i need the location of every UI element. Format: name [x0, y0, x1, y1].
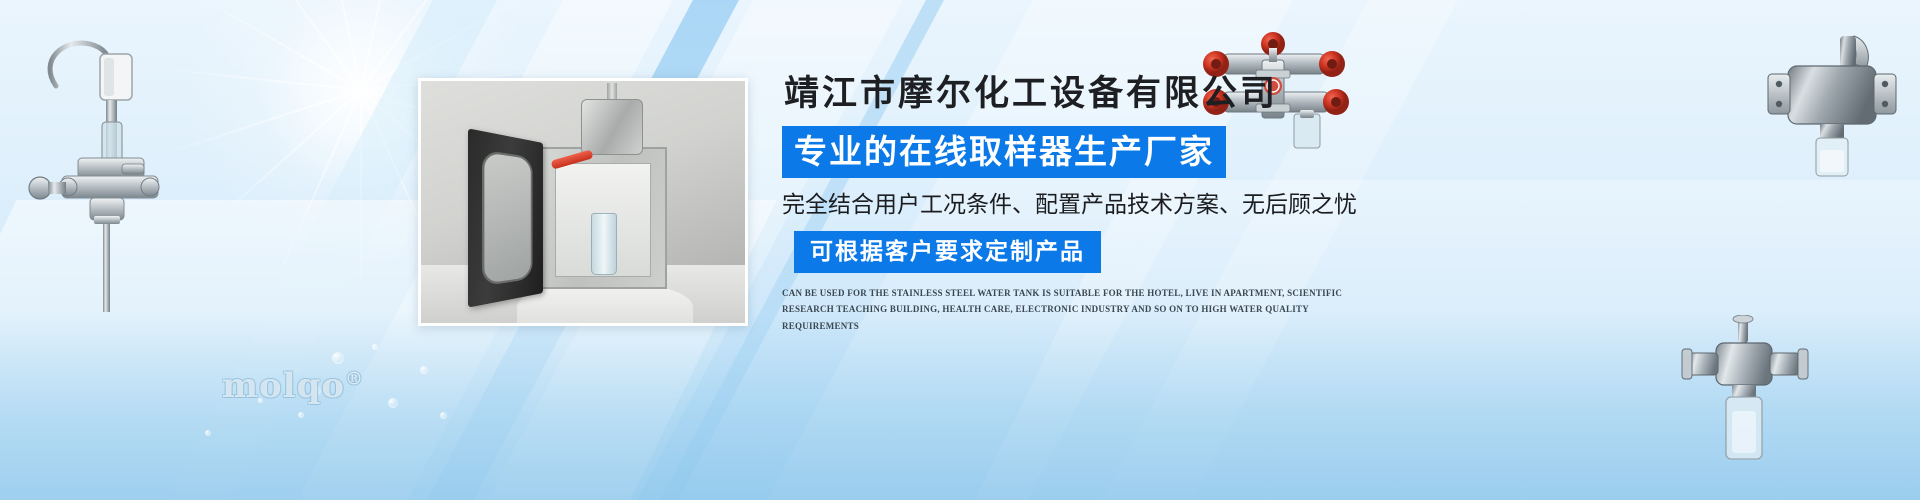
water-droplet: [388, 398, 398, 408]
water-droplet: [440, 412, 447, 419]
subheadline-text: 完全结合用户工况条件、配置产品技术方案、无后顾之忧: [782, 190, 1402, 220]
water-droplet: [420, 366, 428, 374]
english-description: CAN BE USED FOR THE STAINLESS STEEL WATE…: [782, 285, 1382, 335]
banner-text-block: 靖江市摩尔化工设备有限公司 专业的在线取样器生产厂家 完全结合用户工况条件、配置…: [782, 72, 1402, 335]
watermark-text: molqo: [222, 366, 345, 406]
custom-product-cta[interactable]: 可根据客户要求定制产品: [794, 231, 1101, 273]
water-droplet: [332, 352, 344, 364]
sampler-assembly-illustration: [18, 26, 168, 316]
sampling-valve-illustration: [1680, 315, 1810, 465]
company-name: 靖江市摩尔化工设备有限公司: [784, 72, 1402, 116]
promo-banner: 靖江市摩尔化工设备有限公司 专业的在线取样器生产厂家 完全结合用户工况条件、配置…: [0, 0, 1920, 500]
flanged-valve-illustration: [1762, 30, 1902, 180]
water-droplet: [372, 344, 378, 350]
watermark-logo: molqo®: [222, 366, 364, 406]
water-droplet: [298, 412, 304, 418]
headline-highlight: 专业的在线取样器生产厂家: [782, 126, 1226, 178]
registered-trademark-icon: ®: [345, 369, 364, 390]
product-photo: [418, 78, 748, 326]
water-droplet: [205, 430, 211, 436]
